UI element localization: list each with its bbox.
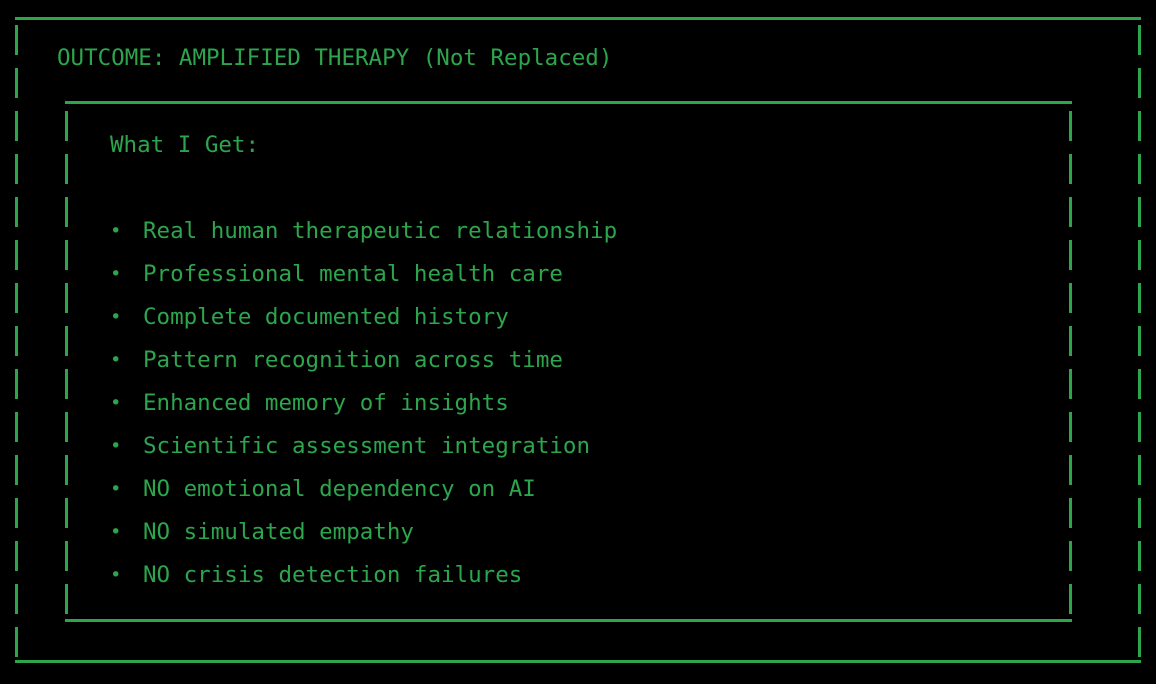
list-item-label: Professional mental health care (143, 253, 563, 296)
list-item: • NO simulated empathy (110, 511, 1010, 554)
inner-border-left (65, 104, 68, 619)
list-item: • Complete documented history (110, 296, 1010, 339)
list-item: • Enhanced memory of insights (110, 382, 1010, 425)
bullet-icon: • (110, 511, 143, 554)
bullet-icon: • (110, 296, 143, 339)
list-item-label: Scientific assessment integration (143, 425, 590, 468)
outer-border-bottom (15, 660, 1141, 663)
list-item: • Professional mental health care (110, 253, 1010, 296)
list-item: • Pattern recognition across time (110, 339, 1010, 382)
list-item-label: NO emotional dependency on AI (143, 468, 536, 511)
list-item-label: Real human therapeutic relationship (143, 210, 617, 253)
terminal-screen: OUTCOME: AMPLIFIED THERAPY (Not Replaced… (0, 0, 1156, 684)
list-item: • Real human therapeutic relationship (110, 210, 1010, 253)
list-item-label: NO crisis detection failures (143, 554, 522, 597)
bullet-icon: • (110, 382, 143, 425)
inner-border-right (1069, 104, 1072, 619)
panel-title: OUTCOME: AMPLIFIED THERAPY (Not Replaced… (57, 37, 612, 80)
bullet-icon: • (110, 554, 143, 597)
bullet-icon: • (110, 425, 143, 468)
list-item: • NO emotional dependency on AI (110, 468, 1010, 511)
bullet-icon: • (110, 253, 143, 296)
list-item: • NO crisis detection failures (110, 554, 1010, 597)
bullet-icon: • (110, 339, 143, 382)
bullet-icon: • (110, 468, 143, 511)
inner-panel-heading: What I Get: (110, 124, 259, 167)
inner-border-bottom (65, 619, 1072, 622)
outer-border-left (15, 20, 18, 660)
benefits-list: • Real human therapeutic relationship • … (110, 210, 1010, 597)
inner-border-top (65, 101, 1072, 104)
outer-border-right (1138, 20, 1141, 660)
list-item-label: NO simulated empathy (143, 511, 414, 554)
outer-border-top (15, 17, 1141, 20)
list-item-label: Complete documented history (143, 296, 509, 339)
list-item-label: Pattern recognition across time (143, 339, 563, 382)
list-item: • Scientific assessment integration (110, 425, 1010, 468)
list-item-label: Enhanced memory of insights (143, 382, 509, 425)
bullet-icon: • (110, 210, 143, 253)
